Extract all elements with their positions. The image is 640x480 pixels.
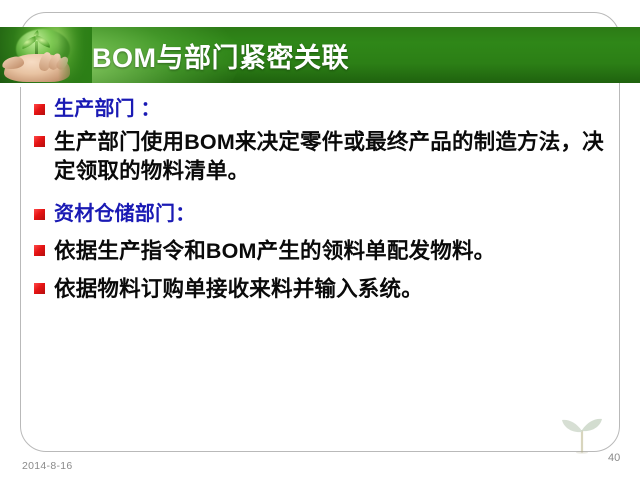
square-bullet-icon — [34, 245, 45, 256]
slide-title: BOM与部门紧密关联 — [92, 27, 349, 83]
bullet-label: 依据物料订购单接收来料并输入系统。 — [54, 275, 614, 304]
square-bullet-icon — [34, 209, 45, 220]
footer-page-number: 40 — [608, 452, 620, 464]
bullet-label: 资材仓储部门： — [54, 201, 614, 228]
footer-date: 2014-8-16 — [22, 460, 73, 472]
bullet-label: 生产部门使用BOM来决定零件或最终产品的制造方法，决定领取的物料清单。 — [54, 128, 614, 186]
bullet-label: 依据生产指令和BOM产生的领料单配发物料。 — [54, 237, 614, 266]
bullet-item-warehouse-issue-material: 依据生产指令和BOM产生的领料单配发物料。 — [34, 237, 614, 266]
bullet-item-production-dept-heading: 生产部门 ： — [34, 96, 614, 123]
slide-body-content: 生产部门 ： 生产部门使用BOM来决定零件或最终产品的制造方法，决定领取的物料清… — [34, 96, 614, 306]
bullet-item-warehouse-dept-heading: 资材仓储部门： — [34, 201, 614, 228]
sprout-watermark-icon — [560, 412, 604, 454]
square-bullet-icon — [34, 283, 45, 294]
seedling-in-hands-photo — [0, 27, 92, 83]
photo-edge-fade — [58, 27, 92, 83]
slide-frame: BOM与部门紧密关联 生产部门 ： 生产部门使用BOM来决定零件或最终产品的制造… — [0, 0, 640, 480]
bullet-item-production-dept-detail: 生产部门使用BOM来决定零件或最终产品的制造方法，决定领取的物料清单。 — [34, 128, 614, 186]
bullet-label: 生产部门 ： — [54, 96, 614, 123]
square-bullet-icon — [34, 104, 45, 115]
slide-title-bar: BOM与部门紧密关联 — [0, 27, 640, 83]
bullet-item-warehouse-receive-material: 依据物料订购单接收来料并输入系统。 — [34, 275, 614, 304]
frame-mask — [0, 83, 22, 87]
square-bullet-icon — [34, 136, 45, 147]
